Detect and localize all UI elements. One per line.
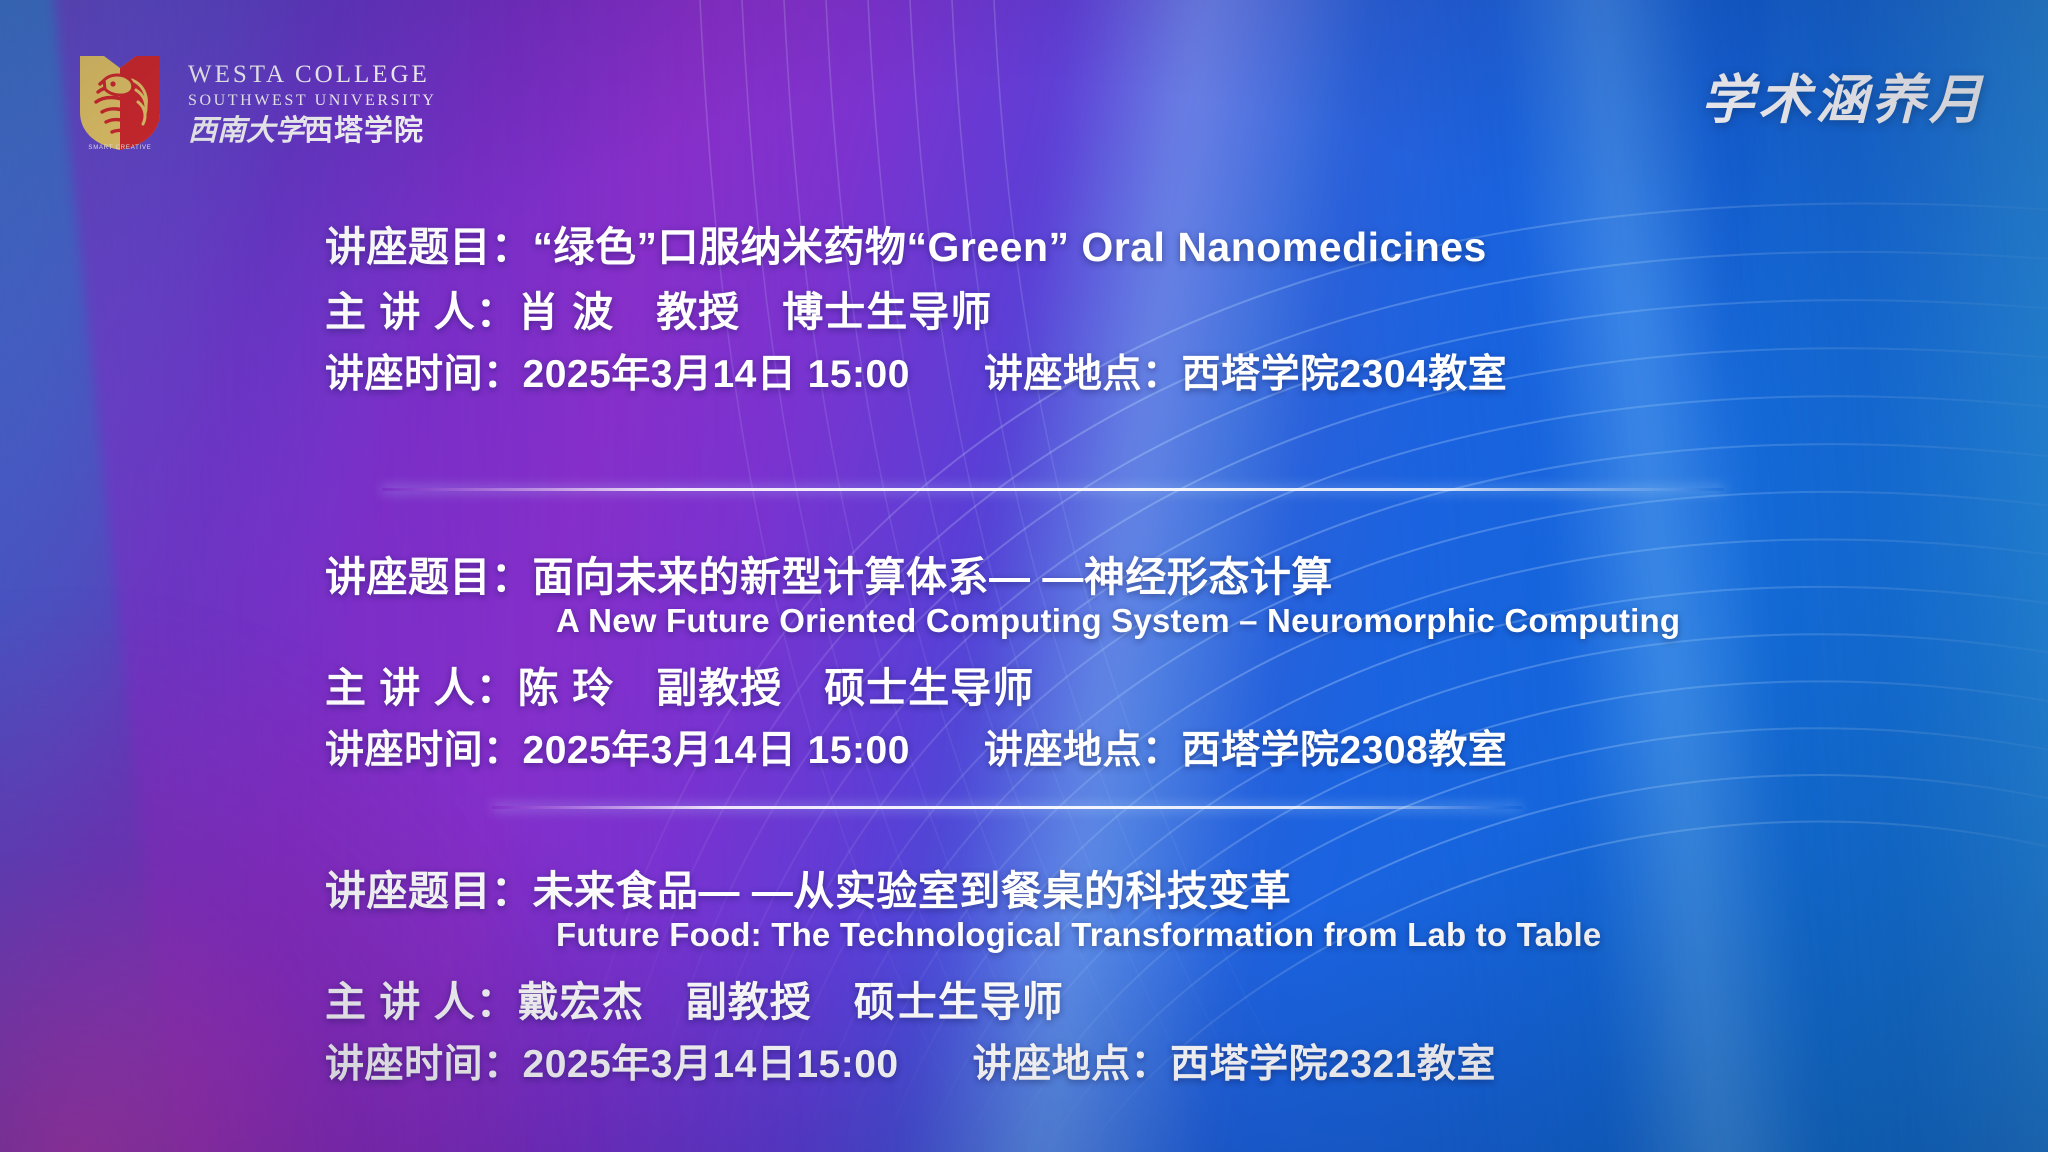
lecture-2-place-value: 西塔学院2308教室 xyxy=(1181,729,1507,772)
lecture-3-speaker-name: 戴宏杰 xyxy=(518,979,644,1025)
lecture-2-topic-value: 面向未来的新型计算体系— —神经形态计算 xyxy=(533,554,1333,600)
lecture-2-meta-line: 讲座时间：2025年3月14日 15:00讲座地点：西塔学院2308教室 xyxy=(325,719,1507,775)
lecture-1-speaker-role: 博士生导师 xyxy=(782,289,992,335)
brand-name-en-primary: WESTA COLLEGE xyxy=(188,62,437,87)
lecture-2-speaker-line: 主 讲 人：陈 玲 副教授 硕士生导师 xyxy=(325,654,1034,714)
lecture-3-speaker-label: 主 讲 人： xyxy=(325,979,518,1025)
lecture-3-topic-line: 讲座题目：未来食品— —从实验室到餐桌的科技变革 xyxy=(325,857,1291,917)
lecture-3-meta-line: 讲座时间：2025年3月14日15:00讲座地点：西塔学院2321教室 xyxy=(325,1033,1496,1089)
lecture-2-time-label: 讲座时间： xyxy=(325,729,523,772)
lecture-2-topic-label: 讲座题目： xyxy=(325,554,533,600)
lecture-1-speaker-name: 肖 波 xyxy=(518,289,614,335)
lecture-1-place-value: 西塔学院2304教室 xyxy=(1181,353,1507,396)
brand-lockup: SMART CREATIVE WESTA COLLEGE SOUTHWEST U… xyxy=(74,50,437,154)
brand-text-block: WESTA COLLEGE SOUTHWEST UNIVERSITY 西南大学西… xyxy=(188,58,437,146)
lecture-3-topic-label: 讲座题目： xyxy=(325,868,533,914)
lecture-3-place-value: 西塔学院2321教室 xyxy=(1170,1043,1496,1086)
lecture-3-time-label: 讲座时间： xyxy=(325,1043,523,1086)
lecture-3-speaker-rank: 副教授 xyxy=(686,979,812,1025)
section-divider-1 xyxy=(382,488,1724,491)
lecture-1-speaker-line: 主 讲 人：肖 波 教授 博士生导师 xyxy=(325,278,992,338)
brand-name-cn-college: 西塔学院 xyxy=(304,115,424,147)
poster-canvas: SMART CREATIVE WESTA COLLEGE SOUTHWEST U… xyxy=(0,0,2048,1152)
page-title: 学术涵养月 xyxy=(1701,58,1986,134)
svg-text:SMART CREATIVE: SMART CREATIVE xyxy=(88,145,151,151)
brand-name-cn: 西南大学西塔学院 xyxy=(188,117,437,146)
lecture-1-meta-line: 讲座时间：2025年3月14日 15:00讲座地点：西塔学院2304教室 xyxy=(325,343,1507,399)
lecture-2-speaker-name: 陈 玲 xyxy=(518,665,614,711)
lecture-2-time-value: 2025年3月14日 15:00 xyxy=(523,729,910,772)
lecture-1-topic-line: 讲座题目：“绿色”口服纳米药物“Green” Oral Nanomedicine… xyxy=(325,213,1487,273)
brand-name-cn-university: 西南大学 xyxy=(188,115,304,147)
lecture-2-topic-en: A New Future Oriented Computing System –… xyxy=(556,602,1680,640)
lecture-2-topic-line: 讲座题目：面向未来的新型计算体系— —神经形态计算 xyxy=(325,543,1333,603)
lecture-1-speaker-rank: 教授 xyxy=(656,289,740,335)
brand-name-en-secondary: SOUTHWEST UNIVERSITY xyxy=(188,93,437,109)
lecture-1-topic-value: “绿色”口服纳米药物“Green” Oral Nanomedicines xyxy=(533,224,1487,270)
lecture-3-place-label: 讲座地点： xyxy=(973,1043,1171,1086)
westa-college-lion-shield-icon: SMART CREATIVE xyxy=(74,50,166,154)
lecture-3-topic-en: Future Food: The Technological Transform… xyxy=(556,916,1601,954)
lecture-3-time-value: 2025年3月14日15:00 xyxy=(523,1043,899,1086)
lecture-2-speaker-role: 硕士生导师 xyxy=(824,665,1034,711)
lecture-3-speaker-role: 硕士生导师 xyxy=(854,979,1064,1025)
lecture-2-speaker-rank: 副教授 xyxy=(656,665,782,711)
lecture-1-time-value: 2025年3月14日 15:00 xyxy=(523,353,910,396)
lecture-2-speaker-label: 主 讲 人： xyxy=(325,665,518,711)
lecture-1-speaker-label: 主 讲 人： xyxy=(325,289,518,335)
poster-header: SMART CREATIVE WESTA COLLEGE SOUTHWEST U… xyxy=(0,0,2048,190)
lecture-3-speaker-line: 主 讲 人：戴宏杰 副教授 硕士生导师 xyxy=(325,968,1064,1028)
lecture-1-topic-label: 讲座题目： xyxy=(325,224,533,270)
section-divider-2 xyxy=(492,806,1522,809)
lecture-2-place-label: 讲座地点： xyxy=(984,729,1182,772)
lecture-1-time-label: 讲座时间： xyxy=(325,353,523,396)
lecture-1-place-label: 讲座地点： xyxy=(984,353,1182,396)
lecture-3-topic-value: 未来食品— —从实验室到餐桌的科技变革 xyxy=(533,868,1292,914)
